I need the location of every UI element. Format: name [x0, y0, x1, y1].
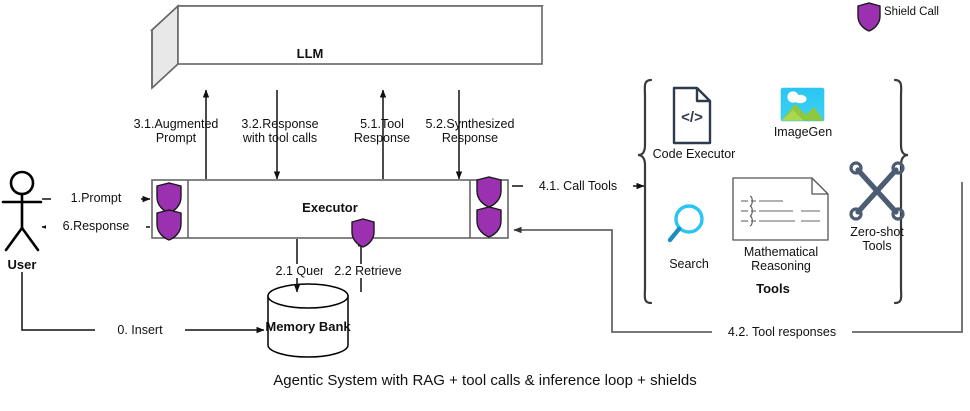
tool-label-math-reasoning: Mathematical Reasoning: [721, 245, 841, 273]
edge-label-response-tool-calls: 3.2.Response with tool calls: [225, 117, 335, 145]
image-photo-icon: [781, 88, 824, 121]
edge-label-tool-response: 5.1.Tool Response: [342, 117, 422, 145]
magnifier-icon: [670, 206, 702, 240]
edge-insert: [22, 272, 264, 330]
edge-label-retrieve: 2.2 Retrieve: [323, 264, 413, 278]
shield-icon-memory: [352, 219, 374, 247]
user-stick-figure: [3, 172, 41, 250]
user-label: User: [0, 258, 62, 272]
tool-label-imagegen: ImageGen: [748, 125, 858, 139]
formula-document-icon: [733, 178, 828, 240]
edge-label-response: 6.Response: [46, 219, 146, 233]
edge-label-insert: 0. Insert: [95, 323, 185, 337]
edge-label-augmented-prompt: 3.1.Augmented Prompt: [126, 117, 226, 145]
crossed-wrenches-icon: [851, 163, 903, 219]
executor-label: Executor: [270, 201, 390, 215]
diagram-graphics: </>: [0, 0, 970, 411]
edge-label-synthesized-response: 5.2.Synthesized Response: [415, 117, 525, 145]
shield-icon-legend: [858, 3, 880, 31]
llm-label: LLM: [260, 47, 360, 61]
code-document-icon: </>: [674, 88, 710, 143]
diagram-canvas: </>: [0, 0, 970, 411]
legend-shield-label: Shield Call: [884, 6, 939, 18]
svg-text:</>: </>: [681, 109, 703, 126]
diagram-caption: Agentic System with RAG + tool calls & i…: [0, 372, 970, 389]
edge-label-tool-responses: 4.2. Tool responses: [712, 325, 852, 339]
memory-bank-label: Memory Bank: [238, 320, 378, 334]
edge-label-prompt: 1.Prompt: [51, 191, 141, 205]
edge-label-call-tools: 4.1. Call Tools: [523, 179, 633, 193]
tools-group-label: Tools: [728, 282, 818, 296]
tool-label-code-executor: Code Executor: [639, 147, 749, 161]
tool-label-zero-shot: Zero-shot Tools: [832, 225, 922, 253]
